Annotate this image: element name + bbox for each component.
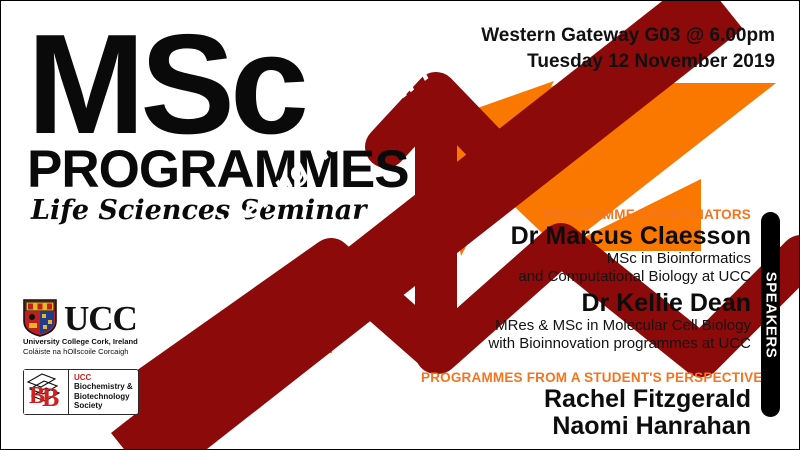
speaker-name: Dr Marcus Claesson: [421, 223, 751, 250]
spacer: [421, 353, 751, 370]
speakers-tab: SPEAKERS: [761, 212, 780, 417]
bbs-mark-icon: B B: [24, 370, 69, 414]
page-tagline: Life Sciences Seminar: [31, 197, 409, 225]
bbs-line-1: Biochemistry &: [74, 382, 133, 391]
page-title: MSc: [27, 19, 409, 151]
coordinators-heading: PROGRAMME COORDINATORS: [421, 207, 751, 222]
student-speaker-name: Rachel Fitzgerald: [421, 386, 751, 413]
svg-text:B: B: [42, 383, 59, 412]
biochemistry-society-logo: B B UCC Biochemistry & Biotechnology Soc…: [23, 369, 139, 415]
coordinator-entry: Dr Kellie Dean MRes & MSc in Molecular C…: [421, 290, 751, 353]
speaker-programme-line: and Computational Biology at UCC: [421, 268, 751, 286]
ucc-subtitle-en: University College Cork, Ireland: [23, 337, 138, 347]
venue-block: Western Gateway G03 @ 6.00pm Tuesday 12 …: [481, 23, 775, 74]
ucc-subtitle-ga: Coláiste na hOllscoile Corcaigh: [23, 347, 129, 357]
venue-date: Tuesday 12 November 2019: [481, 49, 775, 75]
speaker-name: Dr Kellie Dean: [421, 290, 751, 317]
bbs-line-3: Society: [74, 401, 133, 410]
headline-block: MSc PROGRAMMES Life Sciences Seminar: [27, 19, 409, 226]
ucc-logo-row: UCC: [23, 299, 137, 337]
venue-location-time: Western Gateway G03 @ 6.00pm: [481, 23, 775, 49]
coordinator-entry: Dr Marcus Claesson MSc in Bioinformatics…: [421, 223, 751, 286]
ucc-logo: UCC University College Cork, Ireland Col…: [23, 299, 138, 356]
speaker-programme-line: MRes & MSc in Molecular Cell Biology: [421, 317, 751, 335]
bbs-ucc-label: UCC: [74, 373, 133, 382]
speakers-panel: PROGRAMME COORDINATORS Dr Marcus Claesso…: [421, 207, 751, 440]
page-subtitle: PROGRAMMES: [27, 145, 409, 195]
student-speaker-name: Naomi Hanrahan: [421, 413, 751, 440]
speakers-tab-label: SPEAKERS: [762, 271, 779, 358]
speaker-programme-line: MSc in Bioinformatics: [421, 250, 751, 268]
poster-canvas: MSc PROGRAMMES Life Sciences Seminar Wes…: [0, 0, 800, 450]
ucc-crest-icon: [23, 299, 57, 337]
orange-triangle-left: [197, 259, 332, 353]
bbs-line-2: Biotechnology: [74, 392, 133, 401]
students-heading: PROGRAMMES FROM A STUDENT'S PERSPECTIVE: [421, 370, 751, 385]
ucc-wordmark: UCC: [64, 301, 137, 336]
speaker-programme-line: with Bioinnovation programmes at UCC: [421, 335, 751, 353]
bbs-text-block: UCC Biochemistry & Biotechnology Society: [69, 370, 138, 414]
